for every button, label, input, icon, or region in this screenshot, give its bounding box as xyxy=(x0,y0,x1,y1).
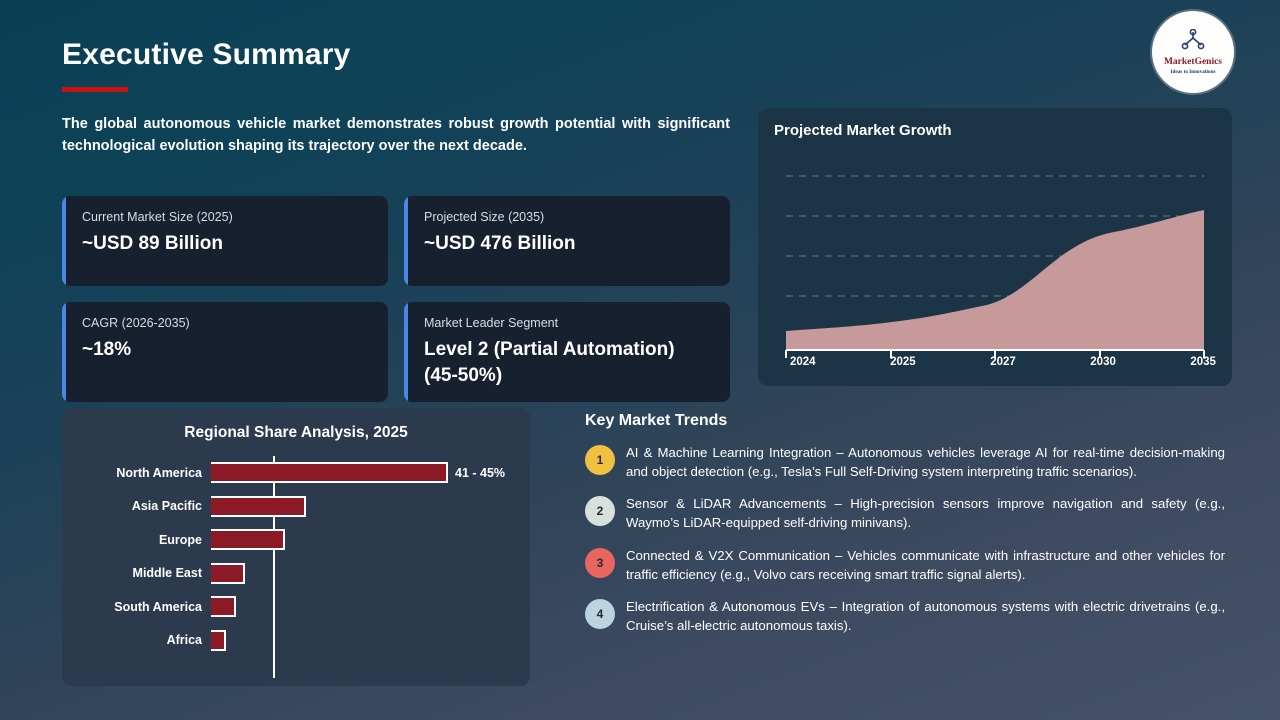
growth-chart-title: Projected Market Growth xyxy=(774,122,1216,139)
bar-row: Europe xyxy=(62,523,530,557)
bar-category-label: Asia Pacific xyxy=(62,499,211,513)
bar-chart: North America 41 - 45% Asia Pacific Euro… xyxy=(62,456,530,680)
bar-track xyxy=(211,563,530,584)
kpi-value: ~18% xyxy=(82,337,370,363)
trend-number-badge: 1 xyxy=(585,445,615,475)
logo-brand-name: MarketGenics xyxy=(1164,58,1222,68)
bar-south-america[interactable] xyxy=(211,596,236,617)
regional-share-panel: Regional Share Analysis, 2025 North Amer… xyxy=(62,408,530,686)
x-tick-label: 2035 xyxy=(1190,356,1216,368)
regional-chart-title: Regional Share Analysis, 2025 xyxy=(76,424,516,442)
trend-item-3: 3 Connected & V2X Communication – Vehicl… xyxy=(585,546,1225,584)
bar-europe[interactable] xyxy=(211,529,285,550)
kpi-card-projected-size[interactable]: Projected Size (2035) ~USD 476 Billion xyxy=(404,196,730,286)
key-market-trends-section: Key Market Trends 1 AI & Machine Learnin… xyxy=(585,412,1225,648)
area-series-market-size xyxy=(786,210,1204,350)
kpi-label: CAGR (2026-2035) xyxy=(82,316,370,330)
trend-number-badge: 2 xyxy=(585,496,615,526)
trend-number-badge: 4 xyxy=(585,599,615,629)
page-title: Executive Summary xyxy=(62,38,351,72)
growth-chart-x-tick-labels: 2024 2025 2027 2030 2035 xyxy=(790,356,1216,368)
kpi-row-2: CAGR (2026-2035) ~18% Market Leader Segm… xyxy=(62,302,730,402)
bar-row: Middle East xyxy=(62,557,530,591)
kpi-card-current-market-size[interactable]: Current Market Size (2025) ~USD 89 Billi… xyxy=(62,196,388,286)
bar-track xyxy=(211,529,530,550)
kpi-card-cagr[interactable]: CAGR (2026-2035) ~18% xyxy=(62,302,388,402)
trend-text: Connected & V2X Communication – Vehicles… xyxy=(626,546,1225,584)
brand-logo: MarketGenics Ideas to Innovations xyxy=(1152,11,1234,93)
area-chart xyxy=(774,154,1216,372)
bar-row: Asia Pacific xyxy=(62,490,530,524)
trend-number-badge: 3 xyxy=(585,548,615,578)
kpi-label: Market Leader Segment xyxy=(424,316,712,330)
bar-track: 41 - 45% xyxy=(211,462,530,483)
bar-data-label: 41 - 45% xyxy=(455,466,505,480)
bar-track xyxy=(211,496,530,517)
bar-category-label: Middle East xyxy=(62,566,211,580)
trends-title: Key Market Trends xyxy=(585,412,1225,430)
kpi-label: Projected Size (2035) xyxy=(424,210,712,224)
kpi-value: Level 2 (Partial Automation) (45-50%) xyxy=(424,337,712,388)
kpi-card-market-leader-segment[interactable]: Market Leader Segment Level 2 (Partial A… xyxy=(404,302,730,402)
trend-item-1: 1 AI & Machine Learning Integration – Au… xyxy=(585,443,1225,481)
trend-text: Electrification & Autonomous EVs – Integ… xyxy=(626,597,1225,635)
kpi-row-1: Current Market Size (2025) ~USD 89 Billi… xyxy=(62,196,730,286)
trend-text: AI & Machine Learning Integration – Auto… xyxy=(626,443,1225,481)
kpi-label: Current Market Size (2025) xyxy=(82,210,370,224)
trend-text: Sensor & LiDAR Advancements – High-preci… xyxy=(626,494,1225,532)
logo-tagline: Ideas to Innovations xyxy=(1171,70,1216,75)
kpi-card-grid: Current Market Size (2025) ~USD 89 Billi… xyxy=(62,196,730,418)
bar-middle-east[interactable] xyxy=(211,563,245,584)
projected-market-growth-panel: Projected Market Growth 2024 2025 2027 2… xyxy=(758,108,1232,386)
bar-row: Africa xyxy=(62,624,530,658)
x-tick-label: 2027 xyxy=(990,356,1016,368)
network-nodes-icon xyxy=(1180,29,1206,56)
bar-row: North America 41 - 45% xyxy=(62,456,530,490)
x-tick-label: 2030 xyxy=(1090,356,1116,368)
bar-asia-pacific[interactable] xyxy=(211,496,306,517)
intro-paragraph: The global autonomous vehicle market dem… xyxy=(62,113,730,158)
bar-north-america[interactable] xyxy=(211,462,448,483)
bar-africa[interactable] xyxy=(211,630,226,651)
bar-category-label: South America xyxy=(62,600,211,614)
trend-item-4: 4 Electrification & Autonomous EVs – Int… xyxy=(585,597,1225,635)
bar-category-label: Europe xyxy=(62,533,211,547)
trend-item-2: 2 Sensor & LiDAR Advancements – High-pre… xyxy=(585,494,1225,532)
bar-category-label: Africa xyxy=(62,633,211,647)
kpi-value: ~USD 476 Billion xyxy=(424,231,712,257)
title-underline-rule xyxy=(62,87,128,92)
x-tick-label: 2025 xyxy=(890,356,916,368)
bar-track xyxy=(211,630,530,651)
bar-row: South America xyxy=(62,590,530,624)
kpi-value: ~USD 89 Billion xyxy=(82,231,370,257)
bar-track xyxy=(211,596,530,617)
bar-category-label: North America xyxy=(62,466,211,480)
x-tick-label: 2024 xyxy=(790,356,816,368)
